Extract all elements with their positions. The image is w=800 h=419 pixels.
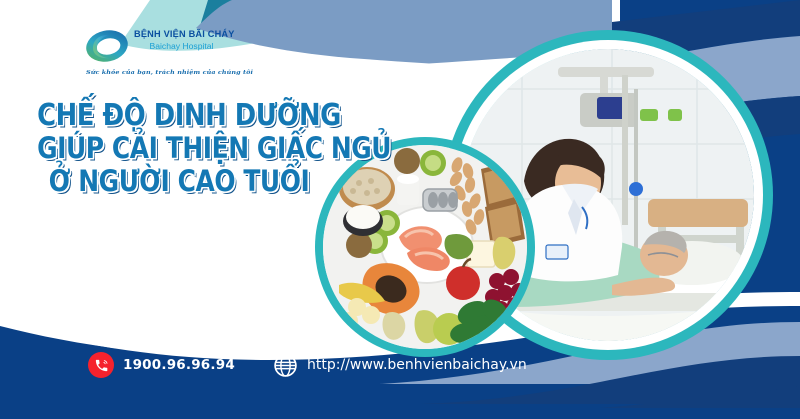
headline-line-3: Ở NGƯỜI CAO TUỔI: [37, 165, 321, 198]
globe-icon: [272, 352, 298, 378]
logo-wordmark: BỆNH VIỆN BÃI CHÁY Baichay Hospital: [134, 29, 229, 52]
promotional-banner: BỆNH VIỆN BÃI CHÁY Baichay Hospital Sức …: [0, 0, 800, 419]
healthy-food-photo: [323, 145, 527, 349]
phone-icon: [88, 352, 114, 378]
website-url: http://www.benhvienbaichay.vn: [307, 357, 527, 373]
hospital-tagline: Sức khỏe của bạn, trách nhiệm của chúng …: [86, 68, 229, 75]
phone-number: 1900.96.96.94: [123, 357, 235, 373]
page-title: CHẾ ĐỘ DINH DƯỠNG GIÚP CẢI THIỆN GIẤC NG…: [14, 99, 344, 198]
hospital-name-vi: BỆNH VIỆN BÃI CHÁY: [134, 29, 229, 40]
footer-contact-bar: 1900.96.96.94 http://www.benhvienbaichay…: [0, 352, 800, 392]
hospital-logo: BỆNH VIỆN BÃI CHÁY Baichay Hospital Sức …: [84, 24, 229, 82]
healthy-food-illustration: [323, 145, 527, 349]
baichay-swoosh-ring-icon: [84, 26, 130, 66]
contact-website[interactable]: http://www.benhvienbaichay.vn: [272, 352, 527, 378]
contact-phone[interactable]: 1900.96.96.94: [88, 352, 235, 378]
hospital-name-en: Baichay Hospital: [134, 41, 229, 52]
headline-line-2: GIÚP CẢI THIỆN GIẤC NGỦ: [37, 132, 321, 165]
headline-line-1: CHẾ ĐỘ DINH DƯỠNG: [37, 99, 321, 132]
